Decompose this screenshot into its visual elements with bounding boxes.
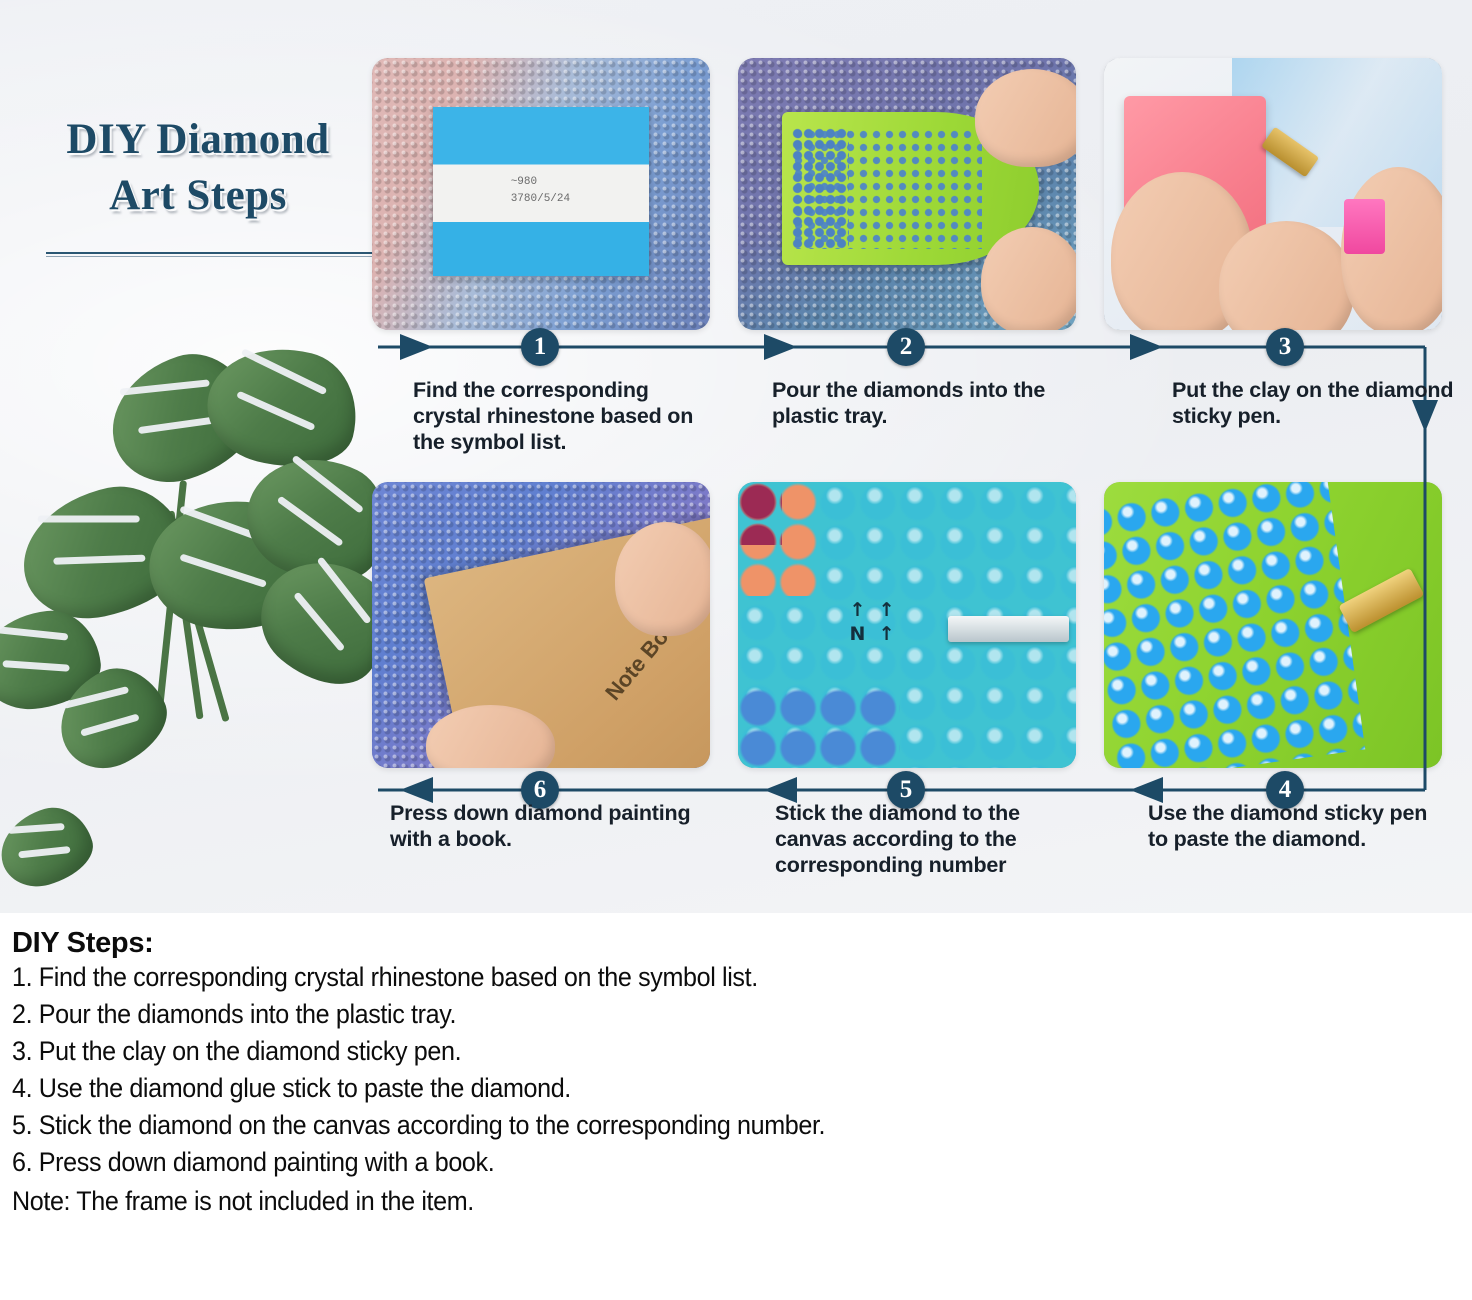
- canvas-symbol-markings: ↑ ↑N ↑: [850, 599, 938, 673]
- diy-steps-list: 1. Find the corresponding crystal rhines…: [8, 964, 1464, 1176]
- list-item: 2. Pour the diamonds into the plastic tr…: [12, 1001, 1362, 1028]
- infographic-panel: DIY Diamond Art Steps: [0, 0, 1472, 913]
- title-line-1: DIY Diamond: [28, 112, 368, 168]
- hand: [615, 522, 710, 636]
- step-caption-3: Put the clay on the diamond sticky pen.: [1172, 377, 1457, 429]
- step-caption-2: Pour the diamonds into the plastic tray.: [772, 377, 1072, 429]
- step-photo-6: Note Book: [372, 482, 710, 768]
- diamond-pen: [948, 616, 1070, 642]
- step-photo-2: [738, 58, 1076, 330]
- pen-grip: [1344, 199, 1385, 253]
- step-caption-1: Find the corresponding crystal rhineston…: [413, 377, 713, 456]
- list-item: 5. Stick the diamond on the canvas accor…: [12, 1112, 1362, 1139]
- hand: [975, 69, 1076, 167]
- step-caption-6: Press down diamond painting with a book.: [390, 800, 720, 852]
- step-caption-4: Use the diamond sticky pen to paste the …: [1148, 800, 1448, 852]
- plum-diamond-region: [738, 482, 782, 545]
- title-line-2: Art Steps: [28, 168, 368, 224]
- blue-diamond-region: [738, 688, 900, 768]
- step-number-3: 3: [1266, 328, 1304, 366]
- diamond-packet: ~980 3780/5/24: [433, 107, 649, 276]
- step-photo-1: ~980 3780/5/24: [372, 58, 710, 330]
- step-photo-5: ↑ ↑N ↑: [738, 482, 1076, 768]
- list-item: 3. Put the clay on the diamond sticky pe…: [12, 1038, 1362, 1065]
- diy-steps-section: DIY Steps: 1. Find the corresponding cry…: [0, 913, 1472, 1300]
- list-item: 1. Find the corresponding crystal rhines…: [12, 964, 1362, 991]
- plant-leaf: [0, 799, 100, 895]
- frame-note: Note: The frame is not included in the i…: [12, 1186, 1362, 1217]
- page-title: DIY Diamond Art Steps: [28, 112, 368, 224]
- loose-diamond-pile: [792, 128, 849, 250]
- packet-label: ~980 3780/5/24: [511, 174, 570, 207]
- hand: [981, 227, 1076, 330]
- title-underline: [46, 252, 376, 257]
- step-caption-5: Stick the diamond to the canvas accordin…: [775, 800, 1065, 879]
- step-number-1: 1: [521, 328, 559, 366]
- arrowhead-right: [400, 334, 433, 360]
- arrowhead-right: [1130, 334, 1163, 360]
- step-photo-3: [1104, 58, 1442, 330]
- list-item: 4. Use the diamond glue stick to paste t…: [12, 1075, 1362, 1102]
- monstera-plant-decoration: [0, 340, 380, 913]
- arrowhead-right: [764, 334, 797, 360]
- diy-steps-heading: DIY Steps:: [12, 927, 1464, 960]
- blue-diamond-rows: [1104, 482, 1366, 768]
- step-photo-4: [1104, 482, 1442, 768]
- list-item: 6. Press down diamond painting with a bo…: [12, 1149, 1362, 1176]
- step-number-2: 2: [887, 328, 925, 366]
- diy-diamond-art-instruction-page: DIY Diamond Art Steps: [0, 0, 1472, 1300]
